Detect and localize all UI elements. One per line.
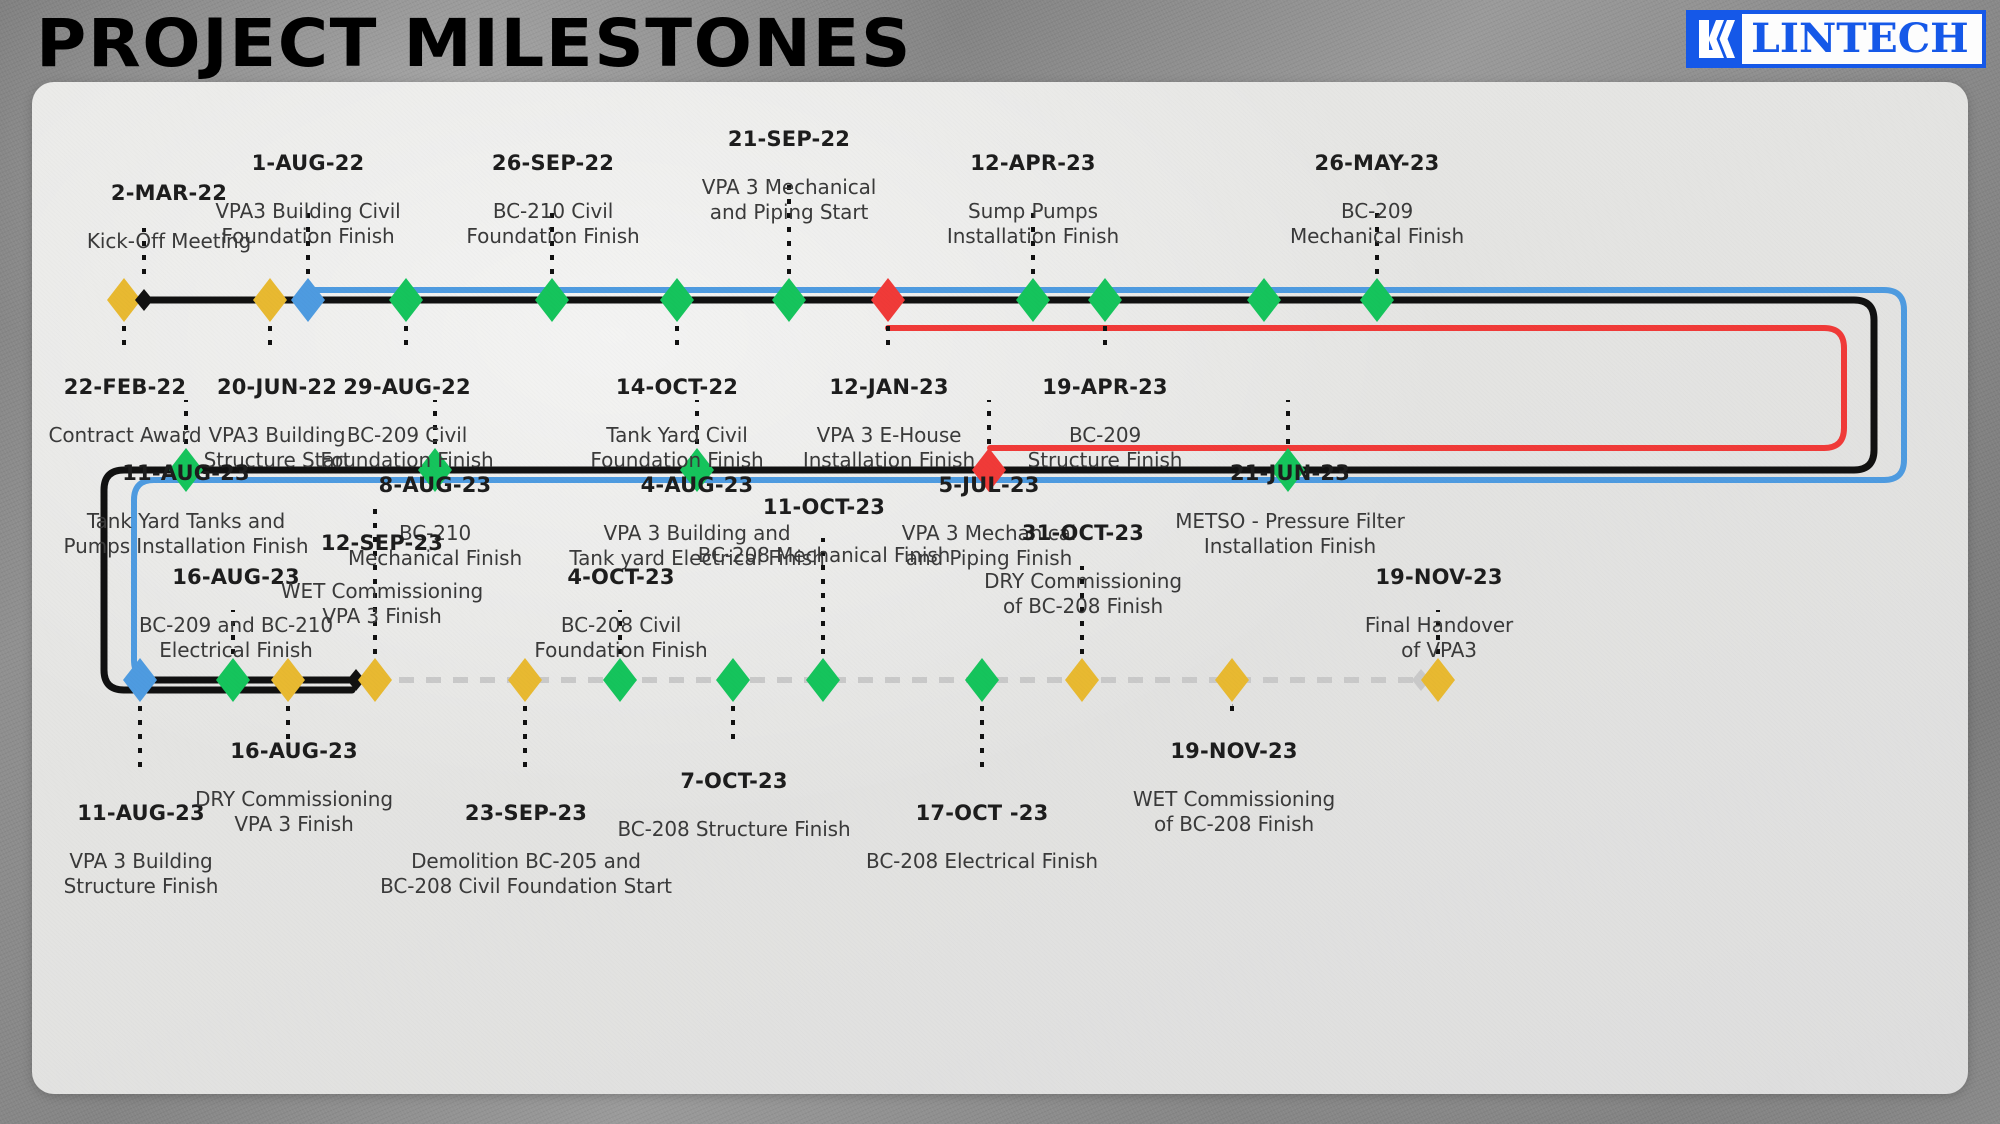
milestone-label-12-apr-23: 12-APR-23 Sump Pumps Installation Finish	[914, 130, 1152, 269]
milestone-desc: BC-208 Structure Finish	[598, 817, 870, 842]
milestone-desc: BC-210 Civil Foundation Finish	[438, 199, 668, 249]
milestone-marker-12-apr-23[interactable]	[1016, 278, 1050, 322]
milestones-board: 22-FEB-22 Contract Award 2-MAR-22 Kick-O…	[32, 82, 1968, 1094]
milestone-label-26-sep-22: 26-SEP-22 BC-210 Civil Foundation Finish	[438, 130, 668, 269]
page-title: PROJECT MILESTONES	[36, 6, 912, 82]
milestone-desc: VPA3 Building Civil Foundation Finish	[172, 199, 444, 249]
milestone-marker-1-aug-22[interactable]	[291, 278, 325, 322]
milestone-label-12-sep-23: 12-SEP-23 WET Commissioning VPA 3 Finish	[260, 510, 504, 649]
milestone-date: 26-MAY-23	[1266, 150, 1488, 176]
milestone-marker-11-oct-23[interactable]	[806, 658, 840, 702]
milestone-date: 21-SEP-22	[672, 126, 906, 152]
milestone-label-31-oct-23: 31-OCT-23 DRY Commissioning of BC-208 Fi…	[962, 500, 1204, 639]
lintech-wordmark: LINTECH	[1740, 17, 1985, 61]
milestone-label-17-oct-23: 17-OCT -23 BC-208 Electrical Finish	[842, 780, 1122, 894]
milestone-date: 14-OCT-22	[562, 374, 792, 400]
milestone-date: 19-NOV-23	[1108, 738, 1360, 764]
milestone-date: 12-SEP-23	[260, 530, 504, 556]
milestone-label-19-nov-23-wet: 19-NOV-23 WET Commissioning of BC-208 Fi…	[1108, 718, 1360, 857]
milestone-marker-14-oct-22[interactable]	[660, 278, 694, 322]
milestone-marker-2-mar-22[interactable]	[135, 289, 153, 311]
milestone-marker-21-sep-22[interactable]	[772, 278, 806, 322]
milestone-marker-19-apr-23[interactable]	[1088, 278, 1122, 322]
milestone-date: 1-AUG-22	[172, 150, 444, 176]
milestone-marker-26-may-23b[interactable]	[1360, 278, 1394, 322]
milestone-marker-12-jan-23[interactable]	[871, 278, 905, 322]
milestone-desc: WET Commissioning of BC-208 Finish	[1108, 787, 1360, 837]
lintech-chevron-icon	[1690, 14, 1742, 64]
milestone-date: 12-APR-23	[914, 150, 1152, 176]
milestone-date: 19-APR-23	[994, 374, 1216, 400]
milestone-desc: Final Handover of VPA3	[1332, 613, 1546, 663]
milestone-date: 21-JUN-23	[1150, 460, 1430, 486]
milestone-date: 26-SEP-22	[438, 150, 668, 176]
milestone-desc: Sump Pumps Installation Finish	[914, 199, 1152, 249]
milestone-marker-26-may-23[interactable]	[1247, 278, 1281, 322]
milestone-label-1-aug-22: 1-AUG-22 VPA3 Building Civil Foundation …	[172, 130, 444, 269]
milestone-label-21-sep-22: 21-SEP-22 VPA 3 Mechanical and Piping St…	[672, 106, 906, 245]
milestone-date: 8-AUG-23	[324, 472, 546, 498]
milestone-marker-17-oct-23[interactable]	[965, 658, 999, 702]
milestone-marker-19-nov-23-wet[interactable]	[1215, 658, 1249, 702]
milestone-label-11-oct-23: 11-OCT-23 BC-208 Mechanical Finish	[684, 474, 964, 588]
lintech-logo: LINTECH	[1686, 10, 1986, 68]
milestone-date: 31-OCT-23	[962, 520, 1204, 546]
milestone-date: 29-AUG-22	[292, 374, 522, 400]
milestone-desc: BC-209 Mechanical Finish	[1266, 199, 1488, 249]
logo-inner-panel: LINTECH	[1690, 14, 1982, 64]
milestone-label-7-oct-23: 7-OCT-23 BC-208 Structure Finish	[598, 748, 870, 862]
milestone-marker-29-aug-22[interactable]	[389, 278, 423, 322]
milestone-date: 17-OCT -23	[842, 800, 1122, 826]
milestone-marker-31-oct-23[interactable]	[1065, 658, 1099, 702]
milestone-date: 19-NOV-23	[1332, 564, 1546, 590]
milestone-marker-26-sep-22[interactable]	[535, 278, 569, 322]
milestone-date: 7-OCT-23	[598, 768, 870, 794]
milestone-desc: DRY Commissioning of BC-208 Finish	[962, 569, 1204, 619]
milestone-desc: WET Commissioning VPA 3 Finish	[260, 579, 504, 629]
milestone-desc: VPA 3 Mechanical and Piping Start	[672, 175, 906, 225]
milestone-date: 12-JAN-23	[772, 374, 1006, 400]
milestone-desc: BC-208 Electrical Finish	[842, 849, 1122, 874]
milestone-date: 11-OCT-23	[684, 494, 964, 520]
milestone-desc: BC-208 Civil Foundation Finish	[510, 613, 732, 663]
milestone-marker-20-jun-22[interactable]	[253, 278, 287, 322]
milestone-desc: BC-208 Mechanical Finish	[684, 543, 964, 568]
milestone-date: 11-AUG-23	[54, 460, 318, 486]
milestone-date: 16-AUG-23	[172, 738, 416, 764]
milestone-label-19-nov-23-final: 19-NOV-23 Final Handover of VPA3	[1332, 544, 1546, 683]
milestone-label-26-may-23: 26-MAY-23 BC-209 Mechanical Finish	[1266, 130, 1488, 269]
